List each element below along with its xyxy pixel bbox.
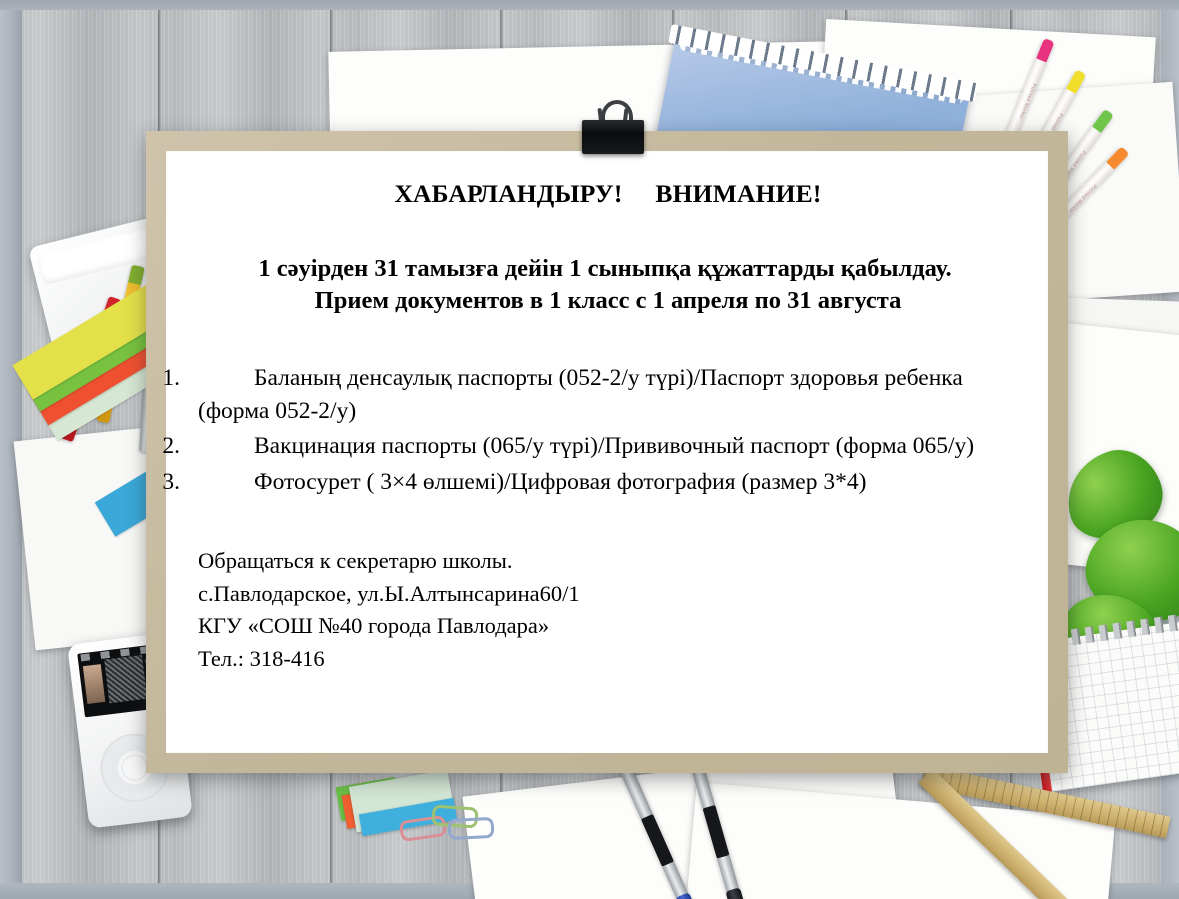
list-item-text: Фотосурет ( 3×4 өлшемі)/Цифровая фотогра… [198, 466, 1018, 499]
list-item-number: 2. [146, 430, 180, 463]
documents-list: 1. Баланың денсаулық паспорты (052-2/у т… [198, 362, 1018, 499]
announcement-card-paper: ХАБАРЛАНДЫРУ! ВНИМАНИЕ! 1 сәуірден 31 та… [166, 151, 1048, 753]
desk-edge-top [0, 0, 1179, 10]
binder-clip-icon [582, 100, 644, 154]
poster-scene: Pointed Marker Pointed Marker Pointed Ma… [0, 0, 1179, 899]
paper-clip-icon [447, 817, 494, 840]
contact-line-school: КГУ «СОШ №40 города Павлодара» [198, 610, 1018, 643]
clip-body [582, 120, 644, 154]
announcement-card-frame: ХАБАРЛАНДЫРУ! ВНИМАНИЕ! 1 сәуірден 31 та… [146, 131, 1068, 773]
list-item: 3. Фотосурет ( 3×4 өлшемі)/Цифровая фото… [198, 466, 1018, 499]
list-item-number: 1. [146, 362, 180, 395]
page-title: ХАБАРЛАНДЫРУ! ВНИМАНИЕ! [198, 179, 1018, 209]
contact-line-phone: Тел.: 318-416 [198, 643, 1018, 676]
contact-block: Обращаться к секретарю школы. с.Павлодар… [198, 545, 1018, 676]
subtitle-kazakh: 1 сәуірден 31 тамызға дейін 1 сыныпқа құ… [192, 253, 1018, 285]
announcement-content: ХАБАРЛАНДЫРУ! ВНИМАНИЕ! 1 сәуірден 31 та… [198, 171, 1018, 676]
subtitle-block: 1 сәуірден 31 тамызға дейін 1 сыныпқа құ… [198, 253, 1018, 318]
list-item-text: Баланың денсаулық паспорты (052-2/у түрі… [198, 362, 1018, 429]
list-item: 2. Вакцинация паспорты (065/у түрі)/Прив… [198, 430, 1018, 463]
list-item-number: 3. [146, 466, 180, 499]
subtitle-russian: Прием документов в 1 класс с 1 апреля по… [198, 285, 1018, 317]
contact-line-address: с.Павлодарское, ул.Ы.Алтынсарина60/1 [198, 578, 1018, 611]
list-item-text: Вакцинация паспорты (065/у түрі)/Прививо… [198, 430, 1018, 463]
contact-line-secretary: Обращаться к секретарю школы. [198, 545, 1018, 578]
list-item: 1. Баланың денсаулық паспорты (052-2/у т… [198, 362, 1018, 429]
